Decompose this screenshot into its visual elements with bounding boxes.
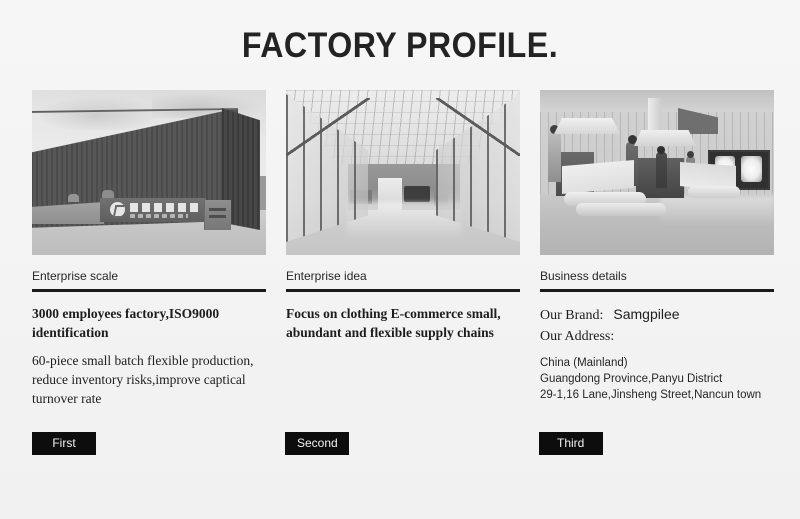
paragraph-1: 60-piece small batch flexible production…: [32, 351, 266, 408]
third-button[interactable]: Third: [539, 432, 603, 455]
column-enterprise-scale: Enterprise scale 3000 employees factory,…: [32, 90, 266, 408]
photo-glass-corridor-interior: [286, 90, 520, 255]
divider-rule-2: [286, 289, 520, 292]
brand-name: Samgpilee: [603, 306, 679, 322]
address-block: China (Mainland) Guangdong Province,Pany…: [540, 355, 774, 403]
divider-rule-3: [540, 289, 774, 292]
photo-factory-warehouse-exterior: [32, 90, 266, 255]
column-enterprise-idea: Enterprise idea Focus on clothing E-comm…: [286, 90, 520, 408]
paragraph-bold-1: 3000 employees factory,ISO9000 identific…: [32, 304, 266, 342]
divider-rule-1: [32, 289, 266, 292]
second-button[interactable]: Second: [285, 432, 349, 455]
section-label-enterprise-idea: Enterprise idea: [286, 269, 520, 283]
button-cell-3: Third: [539, 432, 772, 455]
address-label: Our Address:: [540, 326, 774, 347]
factory-profile-page: FACTORY PROFILE. Enterprise sc: [0, 0, 800, 519]
address-line: China (Mainland): [540, 355, 774, 371]
brand-line: Our Brand:Samgpilee: [540, 304, 774, 326]
columns-container: Enterprise scale 3000 employees factory,…: [32, 90, 772, 408]
button-cell-1: First: [32, 432, 265, 455]
section-label-enterprise-scale: Enterprise scale: [32, 269, 266, 283]
body-text-business-details: Our Brand:Samgpilee Our Address: China (…: [540, 304, 774, 403]
first-button[interactable]: First: [32, 432, 96, 455]
address-line: 29-1,16 Lane,Jinsheng Street,Nancun town: [540, 387, 774, 403]
brand-label: Our Brand:: [540, 308, 603, 323]
button-cell-2: Second: [285, 432, 518, 455]
button-row: First Second Third: [32, 432, 772, 455]
address-line: Guangdong Province,Panyu District: [540, 371, 774, 387]
body-text-enterprise-idea: Focus on clothing E-commerce small, abun…: [286, 304, 520, 342]
photo-fabric-workshop-production: [540, 90, 774, 255]
page-title: FACTORY PROFILE.: [32, 26, 768, 66]
column-business-details: Business details Our Brand:Samgpilee Our…: [540, 90, 774, 408]
body-text-enterprise-scale: 3000 employees factory,ISO9000 identific…: [32, 304, 266, 408]
section-label-business-details: Business details: [540, 269, 774, 283]
paragraph-bold-2: Focus on clothing E-commerce small, abun…: [286, 304, 520, 342]
